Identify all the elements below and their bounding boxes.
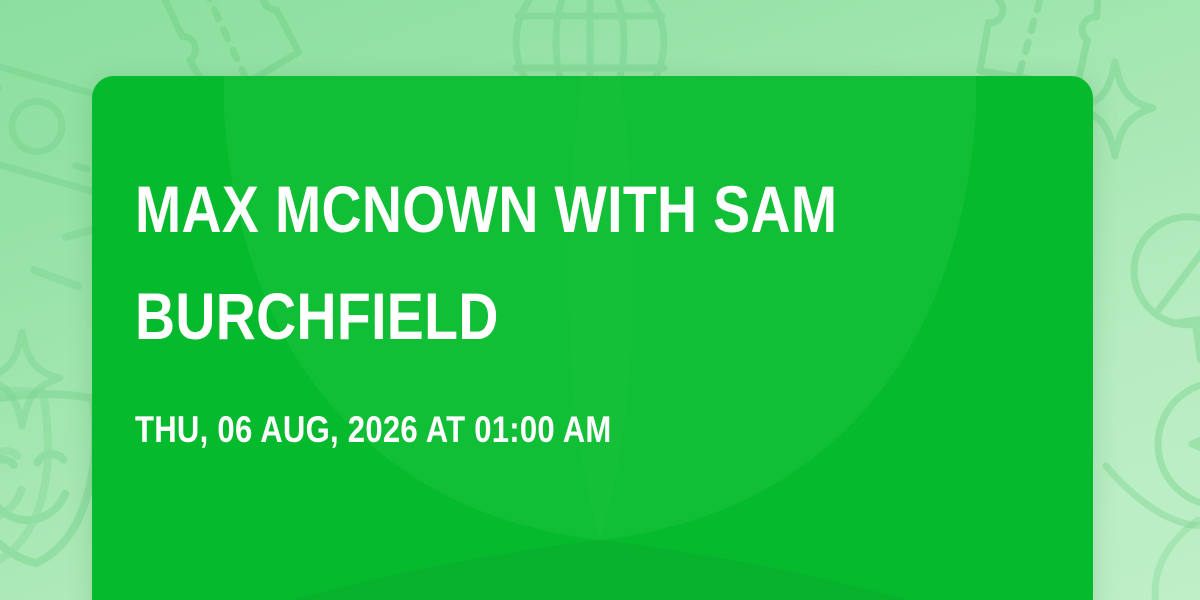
event-banner: Max McNown with Sam Burchfield Thu, 06 A… [0,0,1200,600]
arc-decor [1155,520,1198,600]
sparkle-icon [0,332,60,426]
event-card[interactable]: Max McNown with Sam Burchfield Thu, 06 A… [92,76,1093,600]
event-title: Max McNown with Sam Burchfield [135,156,889,370]
paper-plane-icon [1158,382,1200,506]
card-content: Max McNown with Sam Burchfield Thu, 06 A… [135,156,1033,450]
microphone-icon [1125,191,1200,368]
event-date: Thu, 06 Aug, 2026 at 01:00 AM [135,410,889,450]
